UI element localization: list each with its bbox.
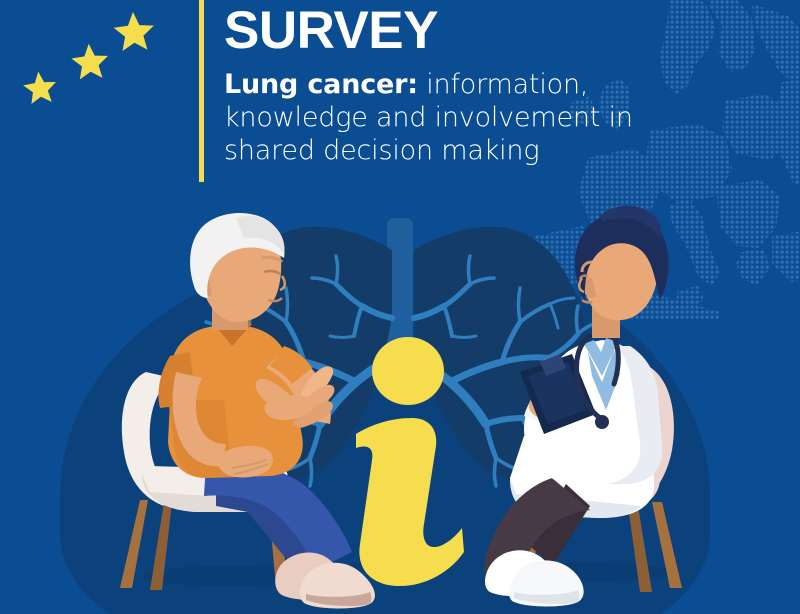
patient-hand-left <box>217 446 273 478</box>
patient-hair <box>190 213 284 298</box>
doctor-leg-back <box>530 484 590 566</box>
doctor-hair <box>575 212 669 300</box>
doctor-leg-front <box>484 478 590 576</box>
doctor-shadow <box>492 562 672 582</box>
doctor-chair-back <box>598 366 674 510</box>
lungs-graphic <box>206 218 600 486</box>
patient-shoe-front <box>300 563 375 609</box>
doctor-shoe-back <box>485 550 554 596</box>
page-subtitle: Lung cancer: information, knowledge and … <box>224 68 704 167</box>
poster-heading-block: SURVEY Lung cancer: information, knowled… <box>224 0 704 167</box>
doctor-head <box>580 225 658 321</box>
information-icon <box>356 337 464 586</box>
doctor-shoe-front <box>509 560 584 606</box>
patient-head <box>199 219 281 322</box>
patient-figure <box>120 213 375 609</box>
patient-shoe-back <box>275 553 345 601</box>
doctor-chair-leg-front <box>520 506 540 590</box>
doctor-clipboard <box>520 354 596 434</box>
patient-leg-front <box>204 461 352 570</box>
doctor-arm-left <box>524 370 580 454</box>
survey-poster: SURVEY Lung cancer: information, knowled… <box>0 0 800 614</box>
patient-leg-back <box>216 470 316 566</box>
doctor-chair-seat <box>514 468 660 514</box>
patient-chair-leg-back <box>120 500 148 588</box>
page-subtitle-bold: Lung cancer: <box>224 69 418 100</box>
title-divider-rule <box>199 0 204 182</box>
patient-chair-seat <box>142 466 290 512</box>
doctor-shirt-collar <box>584 338 618 376</box>
patient-shadow <box>142 566 314 586</box>
patient-hand-right <box>256 366 335 428</box>
doctor-coat-lap <box>510 431 654 518</box>
patient-arm-right <box>266 348 331 424</box>
stethoscope <box>577 334 619 418</box>
background-blob <box>60 255 710 614</box>
info-icon-shadow <box>352 559 444 573</box>
patient-arm-left <box>173 372 226 466</box>
stethoscope-chestpiece <box>595 415 609 429</box>
doctor-coat <box>538 340 656 482</box>
patient-collar <box>214 318 252 346</box>
doctor-hand <box>529 390 583 420</box>
patient-shirt <box>168 326 303 478</box>
doctor-figure <box>484 206 682 607</box>
page-title: SURVEY <box>224 0 704 62</box>
patient-chair-leg-front <box>268 500 288 586</box>
doctor-chair-leg-back <box>652 502 682 588</box>
patient-chair-back <box>122 372 192 506</box>
